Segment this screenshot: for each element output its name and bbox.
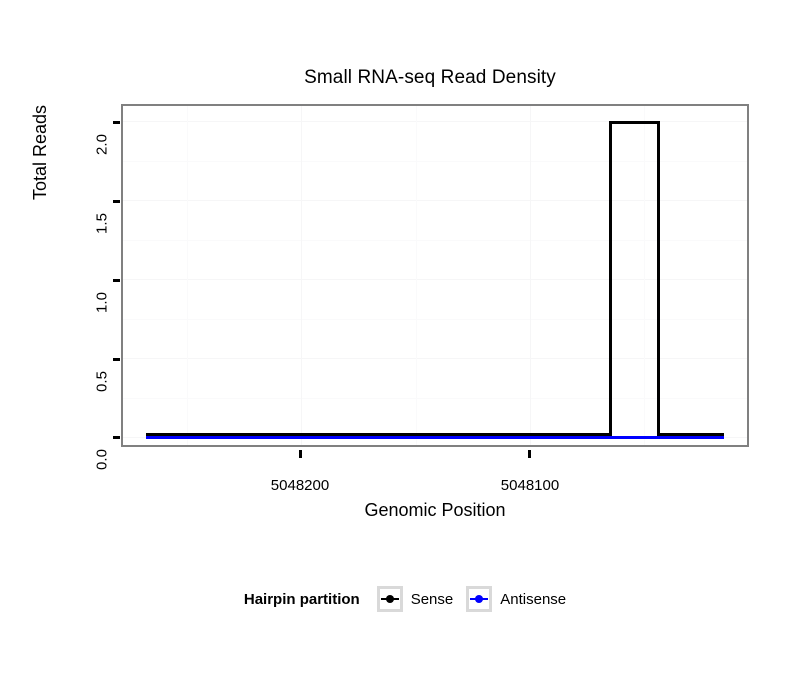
legend-key-antisense <box>466 586 492 612</box>
legend-point-icon-sense <box>386 595 394 603</box>
x-tick-label-5048100: 5048100 <box>470 478 590 493</box>
legend-item-sense[interactable]: Sense <box>377 586 454 612</box>
legend: Hairpin partition Sense Antisense <box>0 586 810 612</box>
x-tick-mark-5048100 <box>528 450 531 458</box>
sense-peak-rising-edge <box>609 121 612 436</box>
sense-peak-falling-edge <box>657 121 660 436</box>
chart-title: Small RNA-seq Read Density <box>25 66 810 90</box>
legend-label-antisense: Antisense <box>500 591 566 608</box>
y-tick-label-1-5: 1.5 <box>95 202 110 246</box>
y-tick-mark-0-0 <box>113 436 120 439</box>
x-tick-label-5048200: 5048200 <box>240 478 360 493</box>
series-sense <box>123 106 747 445</box>
legend-point-icon-antisense <box>475 595 483 603</box>
x-axis-title: Genomic Position <box>121 500 749 520</box>
legend-label-sense: Sense <box>411 591 454 608</box>
y-axis-title: Total Reads <box>31 105 49 200</box>
y-tick-label-0-0: 0.0 <box>95 438 110 482</box>
y-tick-label-2-0: 2.0 <box>95 123 110 167</box>
legend-title: Hairpin partition <box>244 591 360 608</box>
y-tick-label-1-0: 1.0 <box>95 281 110 325</box>
chart-figure: Small RNA-seq Read Density Total Reads 2… <box>0 0 810 690</box>
plot-area <box>123 106 747 445</box>
plot-panel <box>121 104 749 447</box>
sense-baseline-left <box>146 433 611 436</box>
x-tick-mark-5048200 <box>299 450 302 458</box>
y-tick-label-0-5: 0.5 <box>95 360 110 404</box>
y-tick-mark-1-0 <box>113 279 120 282</box>
legend-key-sense <box>377 586 403 612</box>
y-tick-mark-0-5 <box>113 358 120 361</box>
y-tick-mark-2-0 <box>113 121 120 124</box>
sense-peak-top <box>609 121 660 124</box>
y-tick-mark-1-5 <box>113 200 120 203</box>
legend-item-antisense[interactable]: Antisense <box>466 586 566 612</box>
sense-baseline-right <box>657 433 724 436</box>
